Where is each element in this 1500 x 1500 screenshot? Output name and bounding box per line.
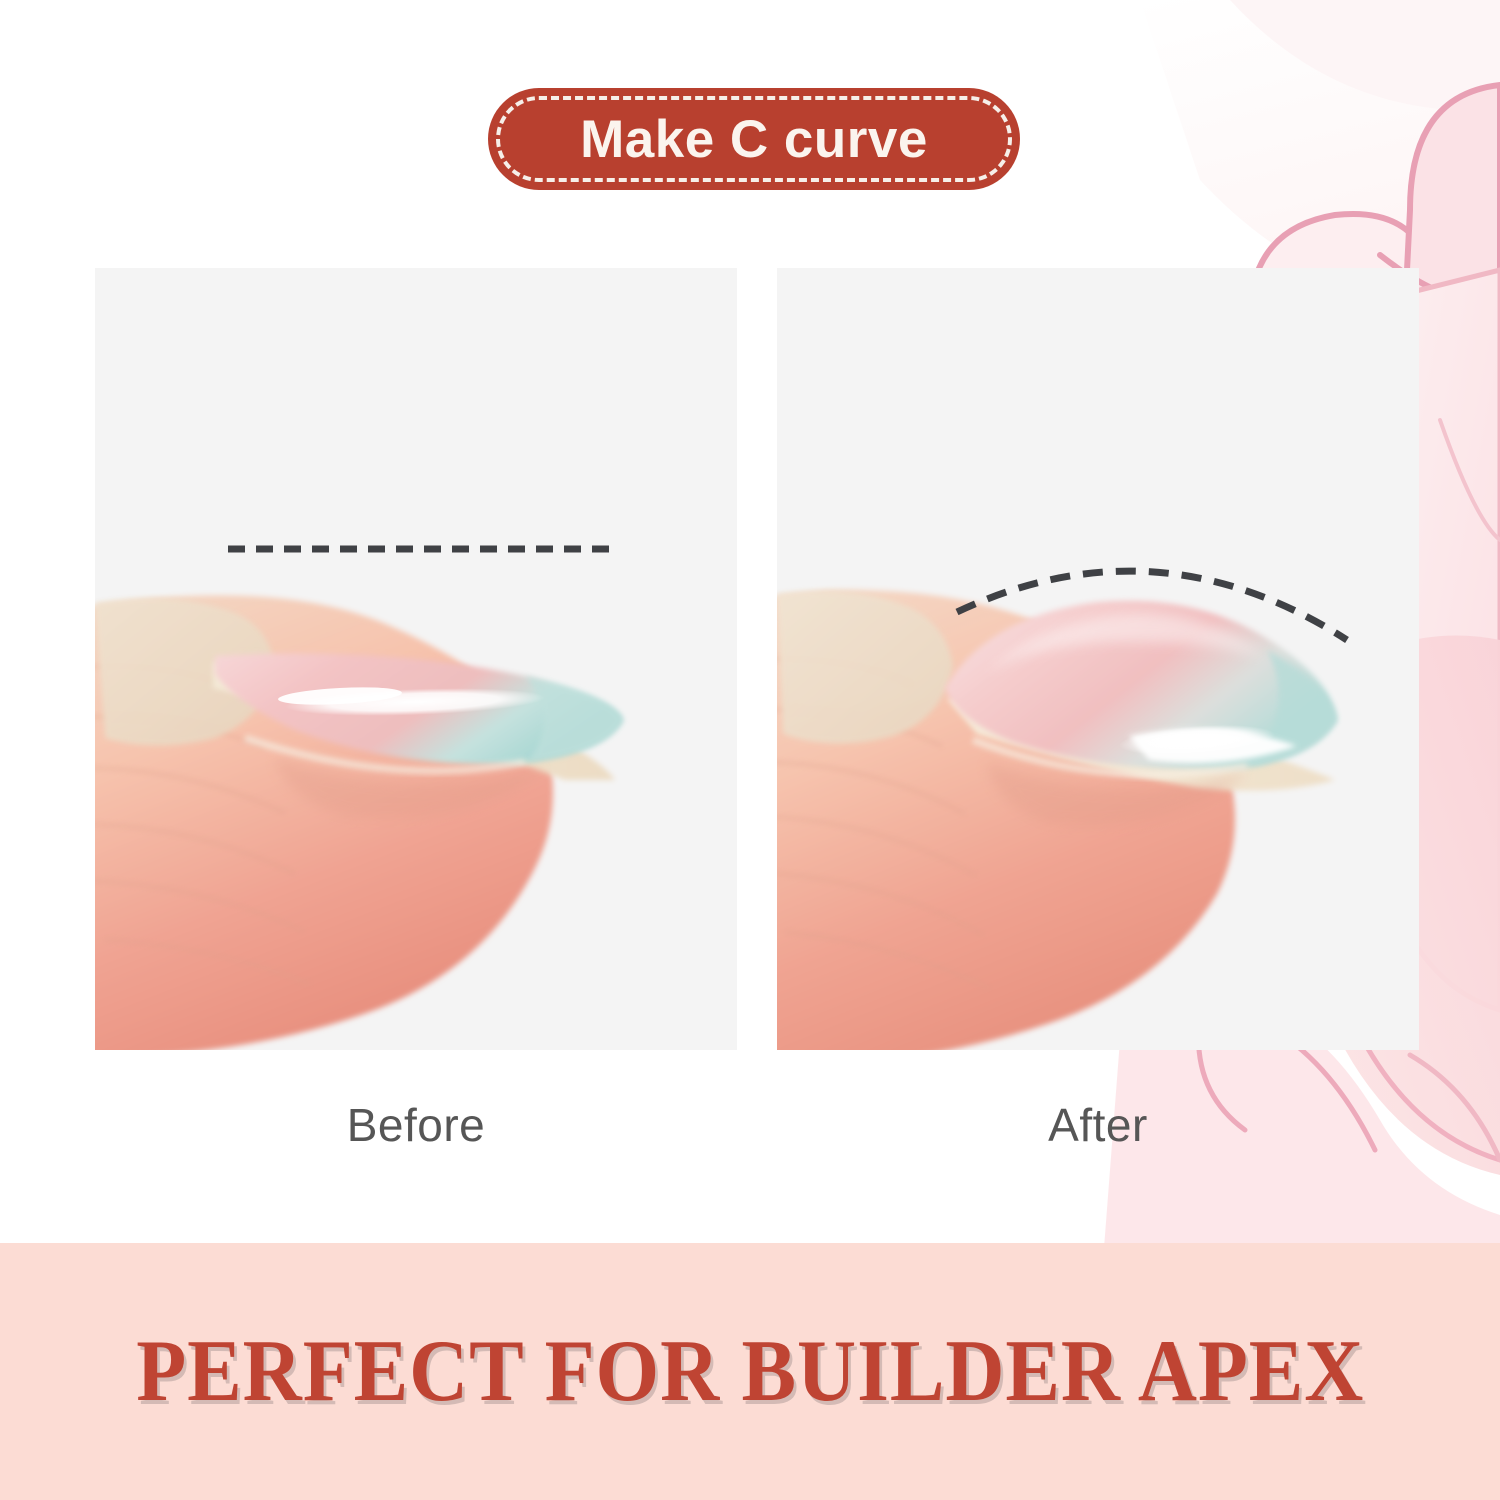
bottom-banner: PERFECT FOR BUILDER APEX bbox=[0, 1243, 1500, 1500]
after-caption: After bbox=[777, 1098, 1419, 1152]
infographic-root: Make C curve bbox=[0, 0, 1500, 1500]
before-photo-panel bbox=[95, 268, 737, 1050]
banner-headline: PERFECT FOR BUILDER APEX bbox=[136, 1321, 1364, 1422]
badge-title: Make C curve bbox=[488, 88, 1020, 190]
before-caption: Before bbox=[95, 1098, 737, 1152]
after-photo-panel bbox=[777, 268, 1419, 1050]
after-nail-illustration bbox=[777, 268, 1419, 1050]
title-badge: Make C curve bbox=[488, 88, 1020, 190]
before-nail-illustration bbox=[95, 268, 737, 1050]
